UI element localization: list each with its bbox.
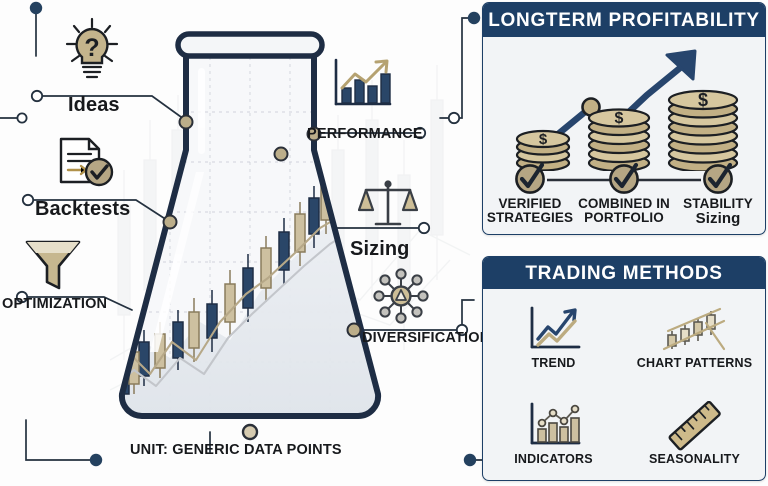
method-cell[interactable]: CHART PATTERNS — [624, 289, 765, 386]
label-unit-caption: UNIT: GENERIC DATA POINTS — [130, 442, 342, 458]
label-optimization: OPTIMIZATION — [2, 296, 107, 312]
profitability-items: VERIFIED STRATEGIES COMBINED IN PORTFOLI… — [483, 161, 765, 227]
check-circle-icon — [607, 161, 641, 195]
indicator-bars-icon — [525, 401, 583, 451]
label-ideas: Ideas — [68, 94, 120, 117]
check-circle-icon — [513, 161, 547, 195]
method-label: CHART PATTERNS — [637, 356, 753, 370]
methods-panel-title: TRADING METHODS — [483, 257, 765, 289]
methods-grid: TREND — [483, 289, 765, 481]
profitability-item-line2: STRATEGIES — [487, 210, 573, 225]
profitability-item: COMBINED IN PORTFOLIO — [577, 161, 671, 227]
label-backtests: Backtests — [35, 198, 130, 221]
profitability-item: VERIFIED STRATEGIES — [483, 161, 577, 227]
method-cell[interactable]: TREND — [483, 289, 624, 386]
method-cell[interactable]: SEASONALITY — [624, 386, 765, 482]
document-check-icon — [55, 136, 117, 192]
lightbulb-question-icon: ? — [62, 16, 122, 82]
profitability-item-line1: COMBINED IN — [578, 196, 670, 211]
profitability-item: STABILITY Sizing — [671, 161, 765, 227]
longterm-profitability-panel: LONGTERM PROFITABILITY $ — [482, 2, 766, 235]
method-cell[interactable]: INDICATORS — [483, 386, 624, 482]
method-label: SEASONALITY — [649, 452, 740, 466]
ruler-icon — [666, 401, 724, 451]
profitability-item-line2: Sizing — [696, 210, 741, 227]
label-diversification: DIVERSIFICATION — [362, 330, 490, 346]
label-sizing: Sizing — [350, 238, 410, 261]
profitability-item-line1: STABILITY — [683, 196, 753, 211]
funnel-icon — [22, 236, 84, 294]
network-hub-icon — [372, 268, 430, 324]
profitability-item-line1: VERIFIED — [498, 196, 561, 211]
candlestick-pattern-icon — [662, 305, 728, 355]
infographic-root: ? Ideas Backtests OPTIMIZATION UNIT: GEN… — [0, 0, 768, 486]
method-label: INDICATORS — [514, 452, 593, 466]
balance-scale-icon — [358, 178, 418, 236]
trading-methods-panel: TRADING METHODS TREND — [482, 256, 766, 481]
method-label: TREND — [531, 356, 575, 370]
label-performance: PERFORMANCE — [307, 126, 423, 142]
svg-text:?: ? — [84, 34, 99, 62]
profitability-item-line2: PORTFOLIO — [584, 210, 664, 225]
bar-chart-arrow-icon — [328, 56, 394, 114]
trend-lines-icon — [525, 305, 583, 355]
profitability-panel-title: LONGTERM PROFITABILITY — [483, 3, 765, 37]
check-circle-icon — [701, 161, 735, 195]
